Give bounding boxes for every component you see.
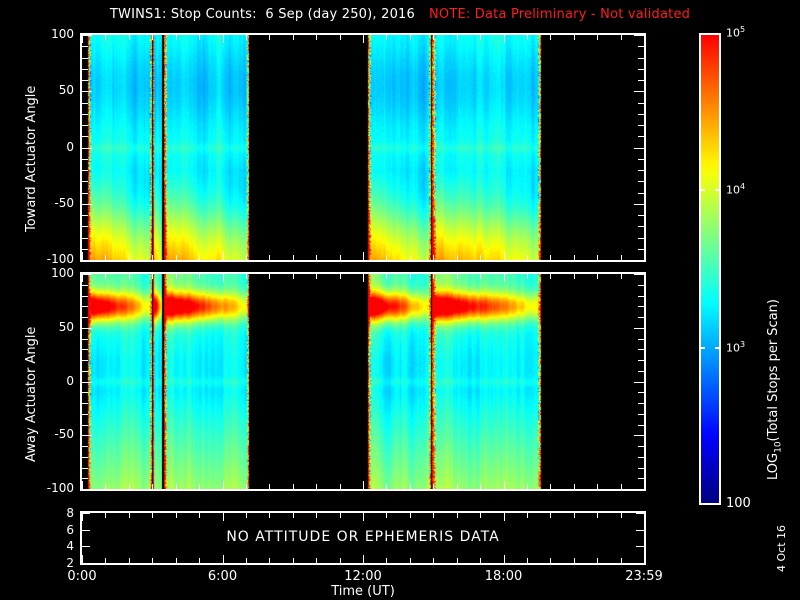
colorbar-title: LOG10(Total Stops per Scan)	[766, 299, 784, 480]
x-tick	[527, 558, 528, 563]
y-tick-ephemeris	[636, 563, 644, 564]
y-tick-away	[82, 446, 88, 447]
y-tick-toward	[82, 181, 88, 182]
x-tick	[82, 481, 83, 489]
y-tick-toward	[638, 215, 644, 216]
y-tick-toward	[82, 148, 92, 149]
y-tick-toward	[638, 193, 644, 194]
x-tick	[223, 481, 224, 489]
x-tick	[504, 481, 505, 489]
x-tick-label: 0:00	[47, 569, 117, 584]
x-tick	[621, 35, 622, 40]
x-tick	[246, 274, 247, 279]
x-tick	[269, 255, 270, 260]
y-tick-toward	[82, 238, 88, 239]
y-tick-away	[82, 489, 92, 490]
y-tick-toward	[638, 80, 644, 81]
y-tick-away	[82, 360, 88, 361]
y-tick-toward	[82, 226, 88, 227]
y-tick-toward	[638, 103, 644, 104]
x-tick	[316, 255, 317, 260]
x-tick	[129, 558, 130, 563]
x-tick	[480, 513, 481, 518]
x-tick	[199, 35, 200, 40]
x-tick	[597, 484, 598, 489]
x-tick	[386, 35, 387, 40]
x-tick	[340, 558, 341, 563]
y-tick-label: -50	[22, 427, 74, 441]
y-tick-toward	[82, 125, 88, 126]
no-data-message: NO ATTITUDE OR EPHEMERIS DATA	[82, 529, 644, 545]
colorbar-title-post: (Total Stops per Scan)	[766, 299, 781, 441]
y-tick-label: 0	[22, 140, 74, 154]
y-tick-toward	[82, 204, 92, 205]
y-tick-label: 6	[44, 523, 74, 537]
x-tick	[597, 274, 598, 279]
x-tick	[457, 558, 458, 563]
x-tick	[129, 35, 130, 40]
panel-toward-ylabel: Toward Actuator Angle	[24, 86, 39, 232]
x-tick	[129, 484, 130, 489]
y-tick-toward	[82, 215, 88, 216]
x-tick	[363, 481, 364, 489]
y-tick-away	[82, 349, 88, 350]
y-tick-away	[638, 446, 644, 447]
x-tick	[621, 558, 622, 563]
x-tick	[176, 255, 177, 260]
y-tick-toward	[638, 58, 644, 59]
y-tick-away	[82, 478, 88, 479]
x-tick	[386, 558, 387, 563]
y-tick-away	[82, 317, 88, 318]
x-tick	[621, 255, 622, 260]
x-tick	[82, 555, 83, 563]
y-tick-away	[638, 285, 644, 286]
y-tick-toward	[82, 114, 88, 115]
colorbar-title-sub: 10	[774, 441, 784, 452]
y-tick-toward	[82, 91, 92, 92]
x-tick	[176, 274, 177, 279]
y-tick-toward	[634, 204, 644, 205]
x-tick	[269, 35, 270, 40]
x-tick	[574, 274, 575, 279]
y-tick-away	[82, 306, 88, 307]
y-tick-away	[82, 403, 88, 404]
x-tick	[316, 558, 317, 563]
x-tick	[410, 484, 411, 489]
x-tick	[316, 484, 317, 489]
x-tick	[223, 252, 224, 260]
y-tick-label: 2	[44, 556, 74, 570]
x-tick	[550, 513, 551, 518]
y-tick-away	[82, 371, 88, 372]
x-tick	[340, 255, 341, 260]
x-tick	[129, 513, 130, 518]
x-tick	[574, 35, 575, 40]
x-tick	[363, 513, 364, 521]
x-tick	[82, 274, 83, 282]
x-tick	[433, 513, 434, 518]
panel-away-actuator-angle	[80, 272, 646, 491]
x-tick	[550, 274, 551, 279]
x-tick	[223, 513, 224, 521]
x-tick-label: 6:00	[188, 569, 258, 584]
x-tick	[621, 513, 622, 518]
y-tick-label: -100	[22, 252, 74, 266]
y-tick-away	[638, 339, 644, 340]
y-tick-toward	[82, 170, 88, 171]
x-tick	[105, 274, 106, 279]
x-tick	[152, 274, 153, 279]
x-tick	[386, 274, 387, 279]
x-tick	[410, 274, 411, 279]
x-tick	[457, 274, 458, 279]
x-tick	[410, 513, 411, 518]
y-tick-away	[82, 296, 88, 297]
x-tick	[82, 252, 83, 260]
y-tick-label: 8	[44, 506, 74, 520]
x-tick	[550, 255, 551, 260]
x-tick	[199, 255, 200, 260]
y-tick-away	[82, 382, 92, 383]
x-tick	[644, 481, 645, 489]
x-tick	[504, 274, 505, 282]
x-tick-label: 18:00	[469, 569, 539, 584]
y-tick-away	[634, 274, 644, 275]
x-tick	[433, 274, 434, 279]
y-tick-toward	[638, 114, 644, 115]
y-tick-away	[634, 328, 644, 329]
y-tick-away	[638, 317, 644, 318]
y-tick-away	[82, 274, 92, 275]
y-tick-toward	[638, 181, 644, 182]
x-tick	[574, 558, 575, 563]
x-tick	[480, 558, 481, 563]
x-tick	[504, 35, 505, 43]
x-tick	[269, 558, 270, 563]
y-tick-toward	[638, 249, 644, 250]
x-tick	[433, 255, 434, 260]
x-tick	[269, 484, 270, 489]
y-tick-away	[638, 306, 644, 307]
y-tick-away	[82, 414, 88, 415]
x-tick	[386, 484, 387, 489]
x-tick	[199, 484, 200, 489]
colorbar-gradient	[701, 35, 719, 503]
x-tick	[621, 484, 622, 489]
y-tick-toward	[638, 226, 644, 227]
x-tick	[316, 513, 317, 518]
x-tick	[410, 255, 411, 260]
x-tick	[199, 274, 200, 279]
x-tick	[152, 513, 153, 518]
colorbar-tick-label: 105	[726, 25, 745, 40]
y-tick-away	[638, 478, 644, 479]
x-tick	[457, 484, 458, 489]
y-tick-away	[82, 435, 92, 436]
y-tick-toward	[82, 46, 88, 47]
y-tick-label: 50	[22, 83, 74, 97]
x-tick	[527, 274, 528, 279]
y-tick-away	[638, 296, 644, 297]
y-tick-away	[638, 425, 644, 426]
x-tick	[293, 274, 294, 279]
x-tick	[574, 255, 575, 260]
colorbar-tick	[699, 189, 705, 191]
x-tick	[504, 252, 505, 260]
y-tick-label: 50	[22, 320, 74, 334]
x-tick	[644, 274, 645, 282]
y-tick-away	[634, 382, 644, 383]
y-tick-toward	[82, 58, 88, 59]
y-tick-toward	[634, 260, 644, 261]
x-tick	[621, 274, 622, 279]
x-tick	[246, 558, 247, 563]
x-tick	[199, 558, 200, 563]
x-tick	[316, 35, 317, 40]
y-tick-away	[82, 457, 88, 458]
y-tick-toward	[82, 136, 88, 137]
y-tick-toward	[638, 125, 644, 126]
y-tick-ephemeris	[82, 530, 90, 531]
x-tick	[504, 513, 505, 521]
panel-away-ylabel: Away Actuator Angle	[24, 327, 39, 462]
x-tick	[363, 274, 364, 282]
x-tick	[644, 35, 645, 43]
x-tick	[293, 558, 294, 563]
colorbar-tick	[715, 189, 721, 191]
y-tick-toward	[82, 35, 92, 36]
x-tick	[480, 484, 481, 489]
x-tick	[550, 484, 551, 489]
y-tick-label: -100	[22, 481, 74, 495]
y-tick-ephemeris	[636, 513, 644, 514]
x-tick	[410, 35, 411, 40]
y-tick-toward	[638, 46, 644, 47]
y-tick-ephemeris	[82, 563, 90, 564]
x-tick	[340, 513, 341, 518]
y-tick-away	[638, 403, 644, 404]
y-tick-away	[82, 328, 92, 329]
x-tick	[176, 558, 177, 563]
x-tick	[129, 274, 130, 279]
x-tick	[457, 513, 458, 518]
x-tick	[527, 513, 528, 518]
y-tick-label: 100	[22, 266, 74, 280]
y-tick-toward	[634, 148, 644, 149]
render-datestamp: 4 Oct 16	[775, 525, 788, 572]
x-tick	[363, 35, 364, 43]
x-tick	[176, 35, 177, 40]
x-tick	[269, 274, 270, 279]
y-tick-away	[638, 349, 644, 350]
colorbar-tick-label: 104	[726, 182, 745, 197]
y-tick-label: 4	[44, 539, 74, 553]
x-tick	[82, 513, 83, 521]
x-tick	[293, 484, 294, 489]
x-tick	[340, 484, 341, 489]
x-tick	[386, 513, 387, 518]
x-tick	[105, 255, 106, 260]
x-tick	[105, 558, 106, 563]
x-tick	[597, 255, 598, 260]
colorbar	[699, 33, 721, 505]
x-tick	[176, 484, 177, 489]
y-tick-away	[634, 435, 644, 436]
x-tick	[550, 35, 551, 40]
x-tick	[527, 484, 528, 489]
y-tick-ephemeris	[636, 546, 644, 547]
x-tick	[105, 484, 106, 489]
x-tick	[269, 513, 270, 518]
colorbar-min-label: 100	[726, 496, 751, 511]
y-tick-away	[82, 425, 88, 426]
y-tick-toward	[82, 249, 88, 250]
y-tick-away	[82, 285, 88, 286]
y-tick-toward	[82, 260, 92, 261]
x-tick	[152, 484, 153, 489]
x-tick	[340, 35, 341, 40]
y-tick-toward	[638, 69, 644, 70]
x-tick	[644, 513, 645, 521]
x-tick	[480, 255, 481, 260]
y-tick-away	[638, 414, 644, 415]
y-tick-toward	[638, 170, 644, 171]
plot-canvas: TWINS1: Stop Counts: 6 Sep (day 250), 20…	[0, 0, 800, 600]
x-tick	[527, 255, 528, 260]
y-tick-ephemeris	[82, 546, 90, 547]
x-tick	[176, 513, 177, 518]
y-tick-toward	[638, 238, 644, 239]
x-tick	[457, 255, 458, 260]
x-tick	[105, 513, 106, 518]
x-tick	[293, 35, 294, 40]
x-tick	[363, 555, 364, 563]
y-tick-toward	[82, 80, 88, 81]
x-tick	[293, 255, 294, 260]
x-tick	[504, 555, 505, 563]
x-tick	[527, 35, 528, 40]
y-tick-toward	[634, 35, 644, 36]
x-tick	[597, 513, 598, 518]
x-tick	[457, 35, 458, 40]
y-tick-toward	[82, 103, 88, 104]
x-tick	[152, 35, 153, 40]
y-tick-ephemeris	[636, 530, 644, 531]
x-tick	[223, 555, 224, 563]
panel-toward-actuator-angle	[80, 33, 646, 262]
y-tick-label: 0	[22, 374, 74, 388]
x-tick	[129, 255, 130, 260]
y-tick-toward	[638, 136, 644, 137]
y-tick-ephemeris	[82, 513, 90, 514]
x-tick	[246, 513, 247, 518]
y-tick-toward	[638, 159, 644, 160]
plot-title-row: TWINS1: Stop Counts: 6 Sep (day 250), 20…	[0, 4, 800, 24]
colorbar-tick	[715, 347, 721, 349]
x-tick	[597, 558, 598, 563]
x-tick	[433, 558, 434, 563]
y-tick-label: 100	[22, 27, 74, 41]
colorbar-tick	[699, 347, 705, 349]
x-tick	[480, 35, 481, 40]
y-tick-away	[638, 371, 644, 372]
y-tick-away	[82, 339, 88, 340]
x-tick	[293, 513, 294, 518]
x-tick	[152, 558, 153, 563]
x-tick	[480, 274, 481, 279]
y-tick-away	[82, 468, 88, 469]
x-tick	[574, 484, 575, 489]
preliminary-data-warning: NOTE: Data Preliminary - Not validated	[429, 7, 690, 22]
x-tick	[340, 274, 341, 279]
page-title: TWINS1: Stop Counts: 6 Sep (day 250), 20…	[110, 7, 415, 22]
y-tick-away	[638, 392, 644, 393]
colorbar-tick-label: 103	[726, 340, 745, 355]
x-tick	[644, 252, 645, 260]
x-tick	[550, 558, 551, 563]
x-tick	[105, 35, 106, 40]
x-tick	[316, 274, 317, 279]
x-tick	[410, 558, 411, 563]
x-tick	[386, 255, 387, 260]
x-tick	[82, 35, 83, 43]
x-tick	[433, 484, 434, 489]
colorbar-title-pre: LOG	[766, 453, 781, 480]
y-tick-label: -50	[22, 196, 74, 210]
y-tick-toward	[82, 193, 88, 194]
x-tick	[363, 252, 364, 260]
x-tick	[223, 274, 224, 282]
x-tick-label: 12:00	[328, 569, 398, 584]
y-tick-away	[638, 468, 644, 469]
x-tick	[574, 513, 575, 518]
y-tick-toward	[82, 159, 88, 160]
x-tick	[246, 255, 247, 260]
x-axis-title: Time (UT)	[283, 584, 443, 599]
y-tick-toward	[82, 69, 88, 70]
x-tick	[246, 484, 247, 489]
x-tick	[597, 35, 598, 40]
x-tick	[223, 35, 224, 43]
x-tick-label: 23:59	[609, 569, 679, 584]
y-tick-away	[638, 360, 644, 361]
y-tick-away	[638, 457, 644, 458]
x-tick	[199, 513, 200, 518]
x-tick	[644, 555, 645, 563]
y-tick-away	[82, 392, 88, 393]
y-tick-toward	[634, 91, 644, 92]
x-tick	[152, 255, 153, 260]
x-tick	[433, 35, 434, 40]
y-tick-away	[634, 489, 644, 490]
x-tick	[246, 35, 247, 40]
